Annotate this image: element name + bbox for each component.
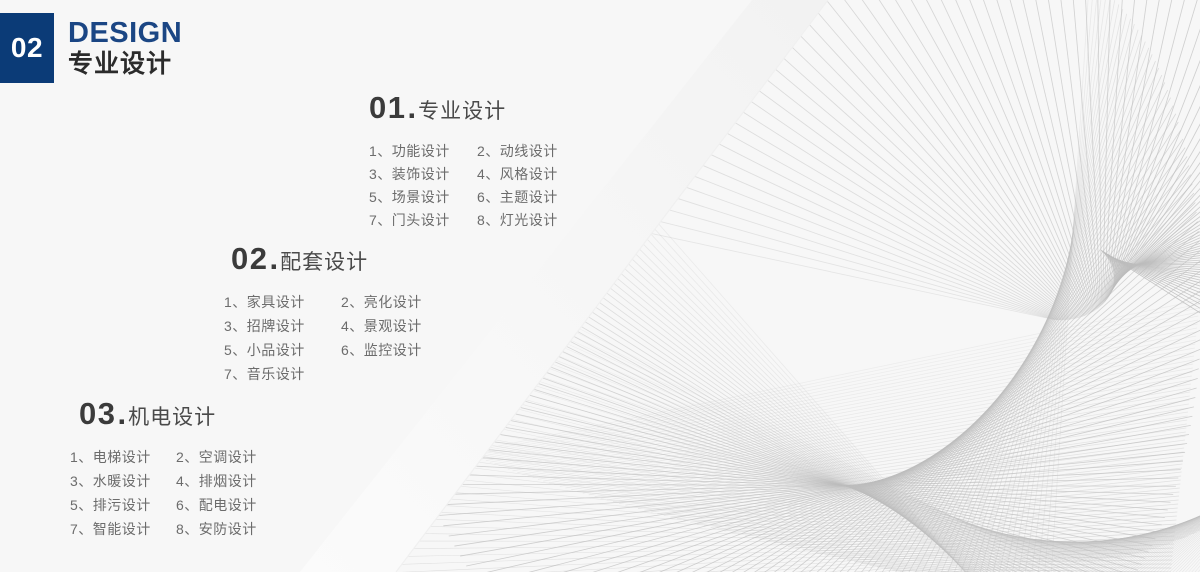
list-item: 7、音乐设计 — [224, 367, 341, 381]
list-row: 3、招牌设计 4、景观设计 — [224, 314, 446, 338]
list-item: 6、监控设计 — [341, 343, 446, 357]
section-1-number: 01 — [369, 92, 406, 123]
section-1-separator: . — [407, 92, 416, 123]
list-item: 3、招牌设计 — [224, 319, 341, 333]
list-item: 7、智能设计 — [70, 522, 176, 536]
section-1-title: 专业设计 — [418, 101, 506, 122]
list-item: 3、装饰设计 — [369, 167, 477, 181]
header-title-group: DESIGN 专业设计 — [68, 13, 182, 83]
list-row: 5、排污设计 6、配电设计 — [70, 493, 281, 517]
section-3-item-list: 1、电梯设计 2、空调设计 3、水暖设计 4、排烟设计 5、排污设计 6、配电设… — [70, 445, 281, 541]
content-section-1: 01 . 专业设计 1、功能设计 2、动线设计 3、装饰设计 4、风格设计 5、… — [369, 92, 582, 231]
content-section-2: 02 . 配套设计 1、家具设计 2、亮化设计 3、招牌设计 4、景观设计 5、… — [231, 243, 446, 386]
list-item: 7、门头设计 — [369, 213, 477, 227]
list-item: 8、灯光设计 — [477, 213, 582, 227]
list-row: 1、电梯设计 2、空调设计 — [70, 445, 281, 469]
section-2-number: 02 — [231, 243, 268, 274]
list-item: 6、配电设计 — [176, 498, 281, 512]
section-3-heading: 03 . 机电设计 — [79, 398, 281, 429]
section-2-separator: . — [269, 243, 278, 274]
list-item: 1、功能设计 — [369, 144, 477, 158]
list-item: 5、排污设计 — [70, 498, 176, 512]
section-1-item-list: 1、功能设计 2、动线设计 3、装饰设计 4、风格设计 5、场景设计 6、主题设… — [369, 139, 582, 231]
list-row: 7、音乐设计 — [224, 362, 446, 386]
list-row: 3、水暖设计 4、排烟设计 — [70, 469, 281, 493]
list-item: 6、主题设计 — [477, 190, 582, 204]
slide-header: 02 DESIGN 专业设计 — [0, 13, 182, 83]
list-row: 1、家具设计 2、亮化设计 — [224, 290, 446, 314]
list-item: 4、风格设计 — [477, 167, 582, 181]
slide-canvas: 02 DESIGN 专业设计 01 . 专业设计 1、功能设计 2、动线设计 3… — [0, 0, 1200, 572]
list-row: 7、智能设计 8、安防设计 — [70, 517, 281, 541]
section-1-heading: 01 . 专业设计 — [369, 92, 582, 123]
list-item: 2、空调设计 — [176, 450, 281, 464]
list-item: 1、家具设计 — [224, 295, 341, 309]
header-title-en: DESIGN — [68, 18, 182, 49]
section-2-item-list: 1、家具设计 2、亮化设计 3、招牌设计 4、景观设计 5、小品设计 6、监控设… — [224, 290, 446, 386]
section-2-title: 配套设计 — [280, 252, 368, 273]
list-row: 5、小品设计 6、监控设计 — [224, 338, 446, 362]
list-item: 2、动线设计 — [477, 144, 582, 158]
list-item: 5、场景设计 — [369, 190, 477, 204]
header-title-cn: 专业设计 — [68, 50, 182, 78]
section-3-number: 03 — [79, 398, 116, 429]
section-2-heading: 02 . 配套设计 — [231, 243, 446, 274]
list-item: 8、安防设计 — [176, 522, 281, 536]
list-row: 7、门头设计 8、灯光设计 — [369, 208, 582, 231]
list-item: 4、景观设计 — [341, 319, 446, 333]
list-item: 4、排烟设计 — [176, 474, 281, 488]
section-number-badge: 02 — [0, 13, 54, 83]
list-item: 1、电梯设计 — [70, 450, 176, 464]
list-item: 5、小品设计 — [224, 343, 341, 357]
section-3-title: 机电设计 — [128, 407, 216, 428]
section-3-separator: . — [117, 398, 126, 429]
content-section-3: 03 . 机电设计 1、电梯设计 2、空调设计 3、水暖设计 4、排烟设计 5、… — [79, 398, 281, 541]
list-row: 3、装饰设计 4、风格设计 — [369, 162, 582, 185]
list-row: 5、场景设计 6、主题设计 — [369, 185, 582, 208]
list-item: 3、水暖设计 — [70, 474, 176, 488]
list-item: 2、亮化设计 — [341, 295, 446, 309]
list-row: 1、功能设计 2、动线设计 — [369, 139, 582, 162]
badge-number-label: 02 — [11, 34, 43, 62]
